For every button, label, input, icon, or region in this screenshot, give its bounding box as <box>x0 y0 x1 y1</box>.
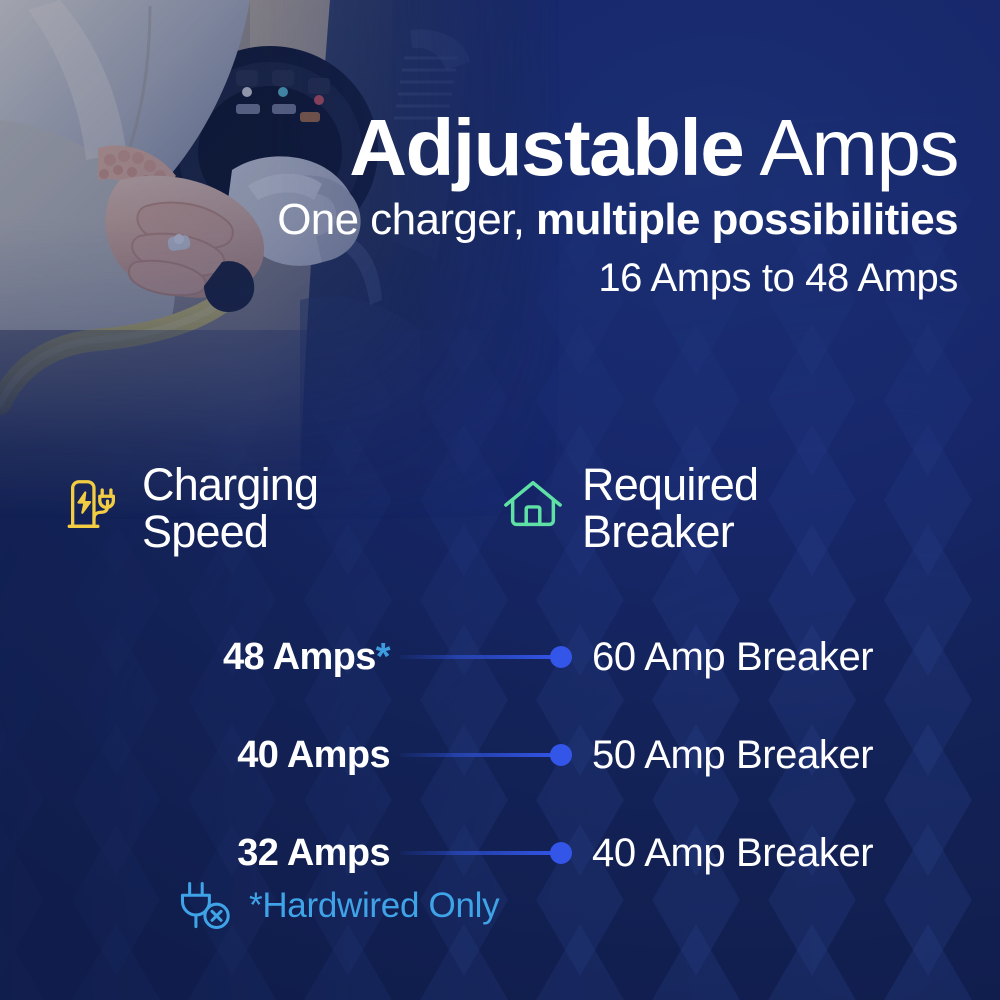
footnote-label: *Hardwired Only <box>249 886 499 926</box>
connector-line-stroke <box>400 655 558 659</box>
table-row: 48 Amps* 60 Amp Breaker <box>0 608 1000 706</box>
amps-breaker-table: 48 Amps* 60 Amp Breaker 40 Amps 50 Amp B… <box>0 608 1000 902</box>
plug-disabled-icon <box>175 880 233 932</box>
subtitle-light: One charger, <box>277 195 536 244</box>
required-breaker-value: 60 Amp Breaker <box>592 635 873 680</box>
subtitle: One charger, multiple possibilities <box>0 198 958 242</box>
connector-dot-icon <box>550 744 572 766</box>
connector-line <box>400 646 575 668</box>
column-header-charging-speed-label: Charging Speed <box>142 462 318 556</box>
connector-line-stroke <box>400 753 558 757</box>
connector-line <box>400 842 575 864</box>
charging-speed-value: 40 Amps <box>0 734 390 777</box>
connector-dot-icon <box>550 842 572 864</box>
column-header-required-breaker: Required Breaker <box>502 462 758 556</box>
page-title-bold: Adjustable <box>349 103 743 192</box>
table-row: 32 Amps 40 Amp Breaker <box>0 804 1000 902</box>
required-breaker-value: 40 Amp Breaker <box>592 831 873 876</box>
charging-speed-value: 48 Amps* <box>0 636 390 679</box>
table-row: 40 Amps 50 Amp Breaker <box>0 706 1000 804</box>
subtitle-range: 16 Amps to 48 Amps <box>0 258 958 298</box>
charging-speed-amps: 32 Amps <box>237 832 390 874</box>
required-breaker-value: 50 Amp Breaker <box>592 733 873 778</box>
ev-charging-station-icon <box>62 474 124 536</box>
footnote: *Hardwired Only <box>175 880 499 932</box>
connector-line <box>400 744 575 766</box>
page-title: Adjustable Amps <box>0 108 958 188</box>
adjustable-amps-infographic: Adjustable Amps One charger, multiple po… <box>0 0 1000 1000</box>
charging-speed-amps: 40 Amps <box>237 734 390 776</box>
connector-line-stroke <box>400 851 558 855</box>
page-title-light: Amps <box>743 103 958 192</box>
charging-speed-value: 32 Amps <box>0 832 390 875</box>
column-header-charging-speed: Charging Speed <box>62 462 318 556</box>
charging-speed-amps: 48 Amps <box>223 636 376 678</box>
subtitle-bold: multiple possibilities <box>536 195 958 244</box>
column-header-required-breaker-label: Required Breaker <box>582 462 758 556</box>
footnote-marker: * <box>376 636 390 678</box>
house-icon <box>502 474 564 536</box>
connector-dot-icon <box>550 646 572 668</box>
